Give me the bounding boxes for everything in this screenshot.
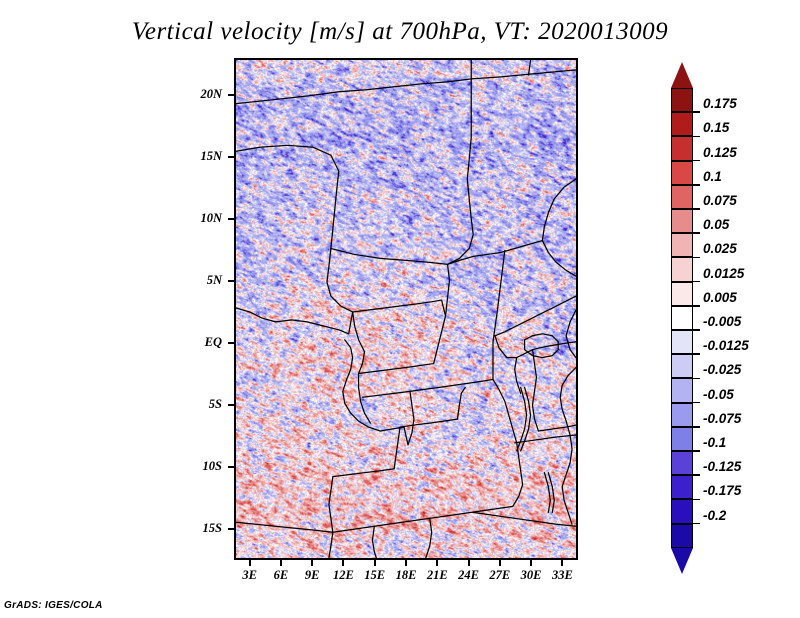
colorbar-tick	[693, 257, 700, 259]
colorbar-tick-label: -0.175	[703, 483, 741, 498]
x-axis-tick	[436, 560, 438, 566]
colorbar-swatch	[671, 499, 693, 523]
colorbar-tick-label: 0.05	[703, 217, 729, 232]
colorbar-extend-min-arrow	[671, 548, 693, 574]
colorbar-swatch	[671, 161, 693, 185]
y-axis-label: 5N	[162, 273, 222, 288]
colorbar-swatch	[671, 378, 693, 402]
colorbar-tick-label: 0.0125	[703, 266, 744, 281]
colorbar-tick	[693, 208, 700, 210]
y-axis-tick	[228, 466, 234, 468]
colorbar-tick	[693, 523, 700, 525]
colorbar-swatch	[671, 136, 693, 160]
colorbar-swatch	[671, 330, 693, 354]
colorbar-tick	[693, 426, 700, 428]
x-axis-tick	[280, 560, 282, 566]
colorbar-swatch	[671, 233, 693, 257]
x-axis-label: 33E	[542, 568, 582, 583]
x-axis-tick	[342, 560, 344, 566]
colorbar-tick	[693, 353, 700, 355]
country-borders-overlay	[236, 60, 576, 558]
y-axis-label: 15N	[162, 149, 222, 164]
y-axis-tick	[228, 94, 234, 96]
y-axis-label: 15S	[162, 521, 222, 536]
colorbar-tick	[693, 378, 700, 380]
colorbar-tick-label: 0.175	[703, 96, 737, 111]
colorbar-swatch	[671, 185, 693, 209]
colorbar-tick	[693, 160, 700, 162]
x-axis-tick	[468, 560, 470, 566]
x-axis-tick	[530, 560, 532, 566]
y-axis-label: 20N	[162, 87, 222, 102]
colorbar: 0.1750.150.1250.10.0750.050.0250.01250.0…	[671, 62, 693, 558]
y-axis-label: EQ	[162, 335, 222, 350]
colorbar-swatch	[671, 403, 693, 427]
colorbar-tick	[693, 136, 700, 138]
colorbar-swatch	[671, 306, 693, 330]
y-axis-tick	[228, 156, 234, 158]
colorbar-tick	[693, 281, 700, 283]
x-axis-tick	[405, 560, 407, 566]
colorbar-swatch	[671, 282, 693, 306]
colorbar-tick	[693, 474, 700, 476]
y-axis-tick	[228, 404, 234, 406]
y-axis-label: 10S	[162, 459, 222, 474]
page-title: Vertical velocity [m/s] at 700hPa, VT: 2…	[0, 18, 800, 46]
y-axis-tick	[228, 218, 234, 220]
colorbar-tick-label: -0.125	[703, 459, 741, 474]
colorbar-swatch	[671, 475, 693, 499]
colorbar-tick-label: 0.025	[703, 241, 737, 256]
colorbar-tick-label: -0.025	[703, 362, 741, 377]
colorbar-swatch	[671, 427, 693, 451]
colorbar-tick-label: -0.005	[703, 314, 741, 329]
y-axis-tick	[228, 528, 234, 530]
y-axis-label: 5S	[162, 397, 222, 412]
credit-label: GrADS: IGES/COLA	[4, 600, 103, 611]
x-axis-tick	[374, 560, 376, 566]
colorbar-tick-label: 0.1	[703, 169, 722, 184]
y-axis-tick	[228, 342, 234, 344]
colorbar-tick	[693, 329, 700, 331]
x-axis-tick	[561, 560, 563, 566]
y-axis-tick	[228, 280, 234, 282]
colorbar-swatch	[671, 88, 693, 112]
x-axis-tick	[499, 560, 501, 566]
colorbar-tick	[693, 111, 700, 113]
y-axis-label: 10N	[162, 211, 222, 226]
colorbar-tick	[693, 499, 700, 501]
colorbar-swatch	[671, 257, 693, 281]
colorbar-swatch	[671, 524, 693, 548]
colorbar-swatch	[671, 451, 693, 475]
colorbar-extend-max-arrow	[671, 62, 693, 88]
colorbar-tick-label: -0.0125	[703, 338, 749, 353]
colorbar-swatch	[671, 354, 693, 378]
colorbar-tick-label: -0.075	[703, 411, 741, 426]
x-axis-tick	[249, 560, 251, 566]
colorbar-tick-label: 0.075	[703, 193, 737, 208]
colorbar-tick-label: -0.1	[703, 435, 726, 450]
colorbar-tick-label: 0.15	[703, 120, 729, 135]
colorbar-tick-label: 0.125	[703, 145, 737, 160]
colorbar-tick	[693, 450, 700, 452]
colorbar-tick	[693, 305, 700, 307]
x-axis-tick	[311, 560, 313, 566]
colorbar-tick	[693, 232, 700, 234]
colorbar-swatch	[671, 209, 693, 233]
map-plot-area	[234, 58, 578, 560]
colorbar-tick-label: 0.005	[703, 290, 737, 305]
colorbar-swatch	[671, 112, 693, 136]
colorbar-tick-label: -0.05	[703, 387, 734, 402]
colorbar-tick	[693, 184, 700, 186]
colorbar-tick-label: -0.2	[703, 508, 726, 523]
colorbar-tick	[693, 402, 700, 404]
